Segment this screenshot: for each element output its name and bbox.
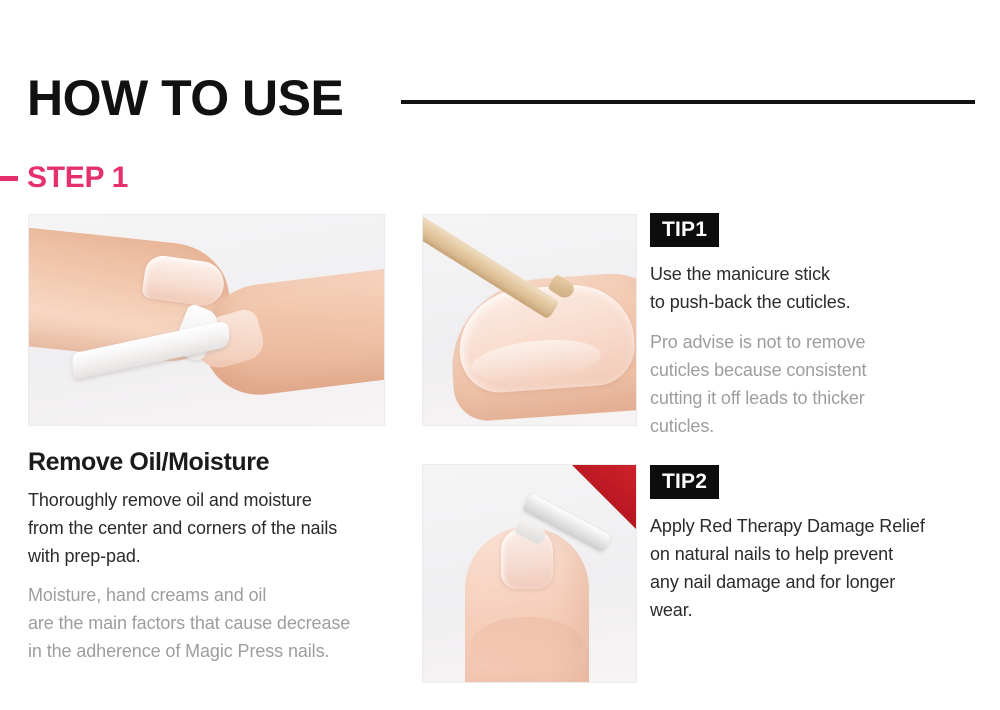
remove-section-body: Thoroughly remove oil and moisture from … xyxy=(28,486,428,570)
page-title: HOW TO USE xyxy=(27,68,343,128)
tip2-body: Apply Red Therapy Damage Relief on natur… xyxy=(650,512,990,624)
header-rule xyxy=(401,100,975,104)
photo-red-therapy-brush-on-nail xyxy=(422,464,637,683)
step-dash-icon xyxy=(0,176,18,181)
tip2-badge: TIP2 xyxy=(650,465,719,499)
tip1-note-line-1: Pro advise is not to remove xyxy=(650,332,865,352)
tip1-note-line-2: cuticles because consistent xyxy=(650,360,866,380)
knuckle-shading xyxy=(471,617,583,673)
photo-prep-pad-on-nail xyxy=(28,214,385,426)
remove-oil-moisture-section: Remove Oil/Moisture Thoroughly remove oi… xyxy=(28,446,428,665)
tip2-section: TIP2 Apply Red Therapy Damage Relief on … xyxy=(650,465,990,624)
remove-note-line-1: Moisture, hand creams and oil xyxy=(28,585,266,605)
remove-body-line-1: Thoroughly remove oil and moisture xyxy=(28,490,312,510)
tip2-body-line-4: wear. xyxy=(650,600,693,620)
tip1-body-line-1: Use the manicure stick xyxy=(650,264,830,284)
tip1-note: Pro advise is not to remove cuticles bec… xyxy=(650,328,990,440)
remove-body-line-3: with prep-pad. xyxy=(28,546,141,566)
tip1-note-line-4: cuticles. xyxy=(650,416,714,436)
photo-manicure-stick-on-nail xyxy=(422,214,637,426)
tip2-body-line-2: on natural nails to help prevent xyxy=(650,544,893,564)
remove-note-line-2: are the main factors that cause decrease xyxy=(28,613,350,633)
remove-body-line-2: from the center and corners of the nails xyxy=(28,518,337,538)
tip1-body-line-2: to push-back the cuticles. xyxy=(650,292,851,312)
tip1-section: TIP1 Use the manicure stick to push-back… xyxy=(650,213,990,440)
remove-section-heading: Remove Oil/Moisture xyxy=(28,446,428,478)
remove-note-line-3: in the adherence of Magic Press nails. xyxy=(28,641,329,661)
tip1-body: Use the manicure stick to push-back the … xyxy=(650,260,990,316)
tip1-note-line-3: cutting it off leads to thicker xyxy=(650,388,865,408)
tip1-badge: TIP1 xyxy=(650,213,719,247)
tip2-body-line-3: any nail damage and for longer xyxy=(650,572,895,592)
step-label: STEP 1 xyxy=(27,159,128,197)
remove-section-note: Moisture, hand creams and oil are the ma… xyxy=(28,581,428,665)
tip2-body-line-1: Apply Red Therapy Damage Relief xyxy=(650,516,925,536)
